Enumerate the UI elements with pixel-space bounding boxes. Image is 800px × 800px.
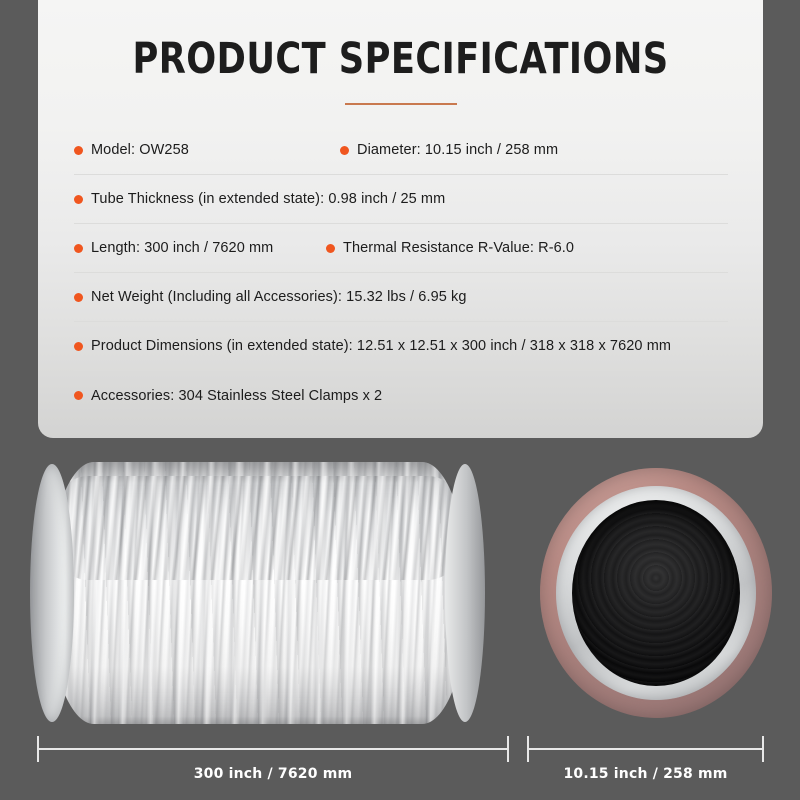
spec-label: Model: OW258 [91, 142, 189, 158]
duct-foil-texture-band [48, 476, 468, 580]
spec-row: Product Dimensions (in extended state): … [74, 322, 728, 371]
dimension-line [527, 748, 764, 750]
spec-item-tube-thickness: Tube Thickness (in extended state): 0.98… [74, 191, 445, 207]
spec-row: Tube Thickness (in extended state): 0.98… [74, 175, 728, 224]
spec-row: Model: OW258 Diameter: 10.15 inch / 258 … [74, 126, 728, 175]
spec-label: Diameter: 10.15 inch / 258 mm [357, 142, 558, 158]
title-underline-accent [345, 103, 457, 105]
specifications-list: Model: OW258 Diameter: 10.15 inch / 258 … [74, 126, 728, 420]
spec-label: Net Weight (Including all Accessories): … [91, 289, 467, 305]
spec-item-length: Length: 300 inch / 7620 mm [74, 240, 273, 256]
product-photo-zone [0, 438, 800, 748]
duct-cross-section-image [540, 468, 772, 718]
spec-row: Length: 300 inch / 7620 mm Thermal Resis… [74, 224, 728, 273]
dimension-annotations: 300 inch / 7620 mm 10.15 inch / 258 mm [0, 736, 800, 800]
bullet-dot-icon [74, 391, 83, 400]
spec-row: Net Weight (Including all Accessories): … [74, 273, 728, 322]
spec-label: Length: 300 inch / 7620 mm [91, 240, 273, 256]
duct-right-end-cap [445, 464, 485, 722]
bullet-dot-icon [74, 146, 83, 155]
bullet-dot-icon [74, 244, 83, 253]
bullet-dot-icon [326, 244, 335, 253]
spec-item-product-dimensions: Product Dimensions (in extended state): … [74, 338, 671, 354]
dimension-tick-right [762, 736, 764, 762]
bullet-dot-icon [74, 195, 83, 204]
bullet-dot-icon [340, 146, 349, 155]
spec-item-diameter: Diameter: 10.15 inch / 258 mm [340, 142, 558, 158]
dimension-tick-right [507, 736, 509, 762]
spec-label: Thermal Resistance R-Value: R-6.0 [343, 240, 574, 256]
spec-label: Accessories: 304 Stainless Steel Clamps … [91, 388, 382, 404]
specifications-card: PRODUCT SPECIFICATIONS Model: OW258 Diam… [38, 0, 763, 438]
spec-item-model: Model: OW258 [74, 142, 189, 158]
spec-item-net-weight: Net Weight (Including all Accessories): … [74, 289, 467, 305]
spec-label: Product Dimensions (in extended state): … [91, 338, 671, 354]
dimension-diameter-label: 10.15 inch / 258 mm [527, 766, 764, 782]
bullet-dot-icon [74, 293, 83, 302]
bullet-dot-icon [74, 342, 83, 351]
page-title: PRODUCT SPECIFICATIONS [103, 34, 698, 84]
duct-side-view-image [30, 462, 485, 724]
duct-bore-opening [572, 500, 740, 686]
product-spec-page: PRODUCT SPECIFICATIONS Model: OW258 Diam… [0, 0, 800, 800]
spec-item-accessories: Accessories: 304 Stainless Steel Clamps … [74, 388, 382, 404]
dimension-length-label: 300 inch / 7620 mm [37, 766, 509, 782]
duct-left-end-cap [30, 464, 74, 722]
spec-label: Tube Thickness (in extended state): 0.98… [91, 191, 445, 207]
spec-row: Accessories: 304 Stainless Steel Clamps … [74, 371, 728, 420]
dimension-line [37, 748, 509, 750]
spec-item-thermal-resistance: Thermal Resistance R-Value: R-6.0 [326, 240, 574, 256]
